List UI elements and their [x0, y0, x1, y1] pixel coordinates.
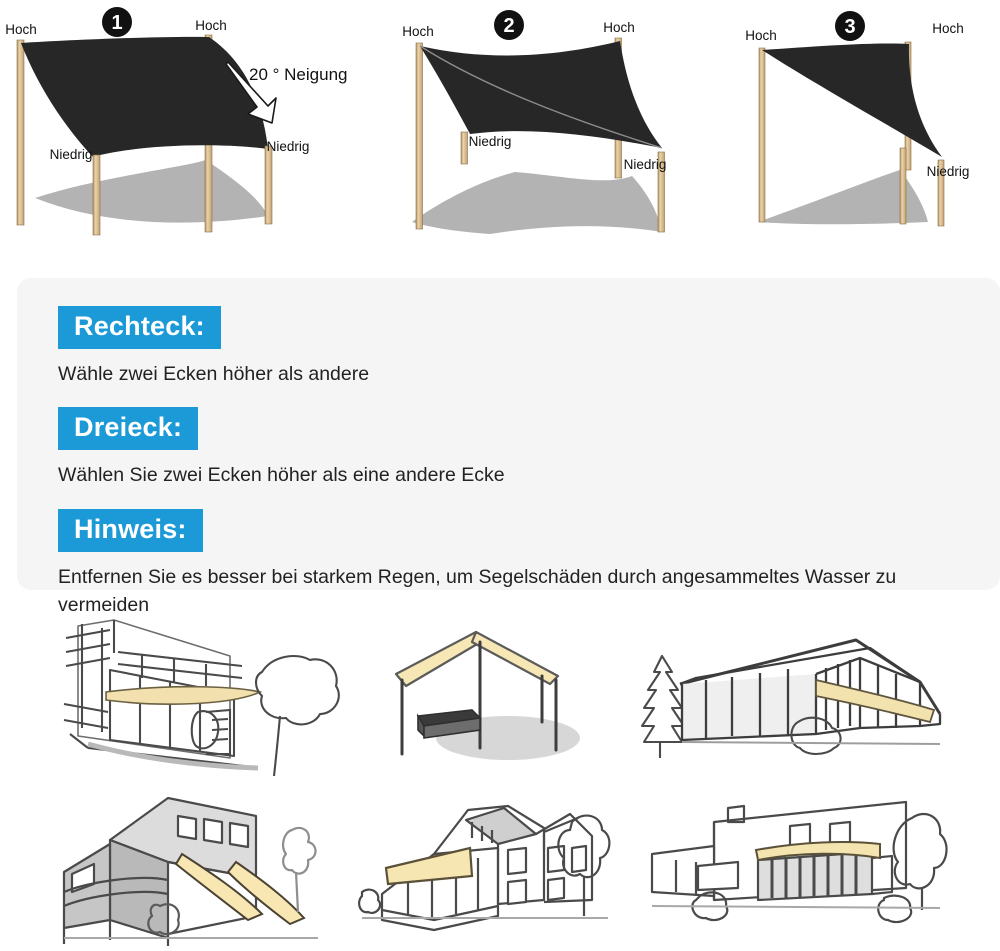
bush-right-icon [878, 896, 911, 922]
pole-front-left [93, 155, 100, 235]
step-number-label: 2 [503, 15, 514, 37]
facade [682, 674, 816, 740]
bush-left-icon [359, 890, 380, 913]
pole-front-left [461, 132, 468, 164]
pole-back-left [17, 40, 24, 225]
label-niedrig-bottom-left: Niedrig [50, 147, 93, 162]
shade-sail-right [472, 632, 558, 684]
pole-front-right [265, 146, 272, 224]
shade-sail [762, 43, 942, 157]
diagram-2-rectangle-twisted: 2 Hoch Hoch Niedrig Niedrig [350, 0, 700, 262]
label-hoch-top-right: Hoch [932, 21, 964, 36]
modern-house-awning-sketch [620, 618, 960, 778]
label-hoch-top-left: Hoch [5, 22, 37, 37]
label-hoch-top-left: Hoch [402, 24, 434, 39]
shade-sail-left [396, 632, 484, 686]
shade-sail-diagram-row: 1 Hoch Hoch Niedrig Niedrig 20 ° Neigung… [0, 0, 1000, 262]
slope-annotation: 20 ° Neigung [249, 65, 347, 84]
family-house-sail-sketch [348, 788, 640, 950]
text-rechteck: Wähle zwei Ecken höher als andere [58, 360, 938, 388]
spacer-2 [17, 490, 1000, 509]
diagram-1-rectangle: 1 Hoch Hoch Niedrig Niedrig 20 ° Neigung [0, 0, 350, 262]
step-number-label: 3 [844, 16, 855, 38]
sail-shadow [412, 172, 662, 234]
shade-sail-fabric [816, 680, 934, 722]
heading-badge-dreieck: Dreieck: [58, 407, 198, 450]
heading-badge-rechteck: Rechteck: [58, 306, 221, 349]
pole-back-left [416, 43, 423, 229]
label-hoch-top-right: Hoch [195, 18, 227, 33]
villa-veranda-sail-sketch [640, 788, 960, 950]
dormer-roof [466, 808, 536, 844]
label-niedrig-bottom-left: Niedrig [469, 134, 512, 149]
pole-front-left [900, 148, 906, 224]
shade-sail-fabric [106, 687, 260, 704]
text-dreieck: Wählen Sie zwei Ecken höher als eine and… [58, 461, 938, 489]
heading-badge-hinweis: Hinweis: [58, 509, 203, 552]
sail-shadow [35, 160, 268, 223]
application-sketch-gallery [0, 600, 1000, 951]
pole-back-left [759, 48, 765, 222]
diagram-3-triangle: 3 Hoch Hoch Niedrig [700, 0, 1000, 262]
freestanding-canopy-sketch [380, 618, 630, 778]
label-niedrig-bottom-right: Niedrig [624, 157, 667, 172]
label-hoch-top-right: Hoch [603, 20, 635, 35]
label-hoch-top-left: Hoch [745, 28, 777, 43]
instructions-panel: Rechteck: Wähle zwei Ecken höher als and… [17, 278, 1000, 590]
tree-icon [256, 656, 339, 776]
fir-tree-icon [642, 656, 684, 758]
label-niedrig-bottom-right: Niedrig [927, 164, 970, 179]
step-number-label: 1 [111, 12, 122, 34]
shade-sail [21, 37, 268, 157]
shrub-icon [283, 828, 315, 912]
shade-sail [420, 41, 662, 148]
shade-sail-fabric [386, 848, 472, 884]
balcony-terrace-sketch [48, 608, 348, 778]
label-niedrig-bottom-right: Niedrig [267, 139, 310, 154]
spacer-1 [17, 388, 1000, 407]
double-sail-patio-sketch [48, 788, 340, 950]
